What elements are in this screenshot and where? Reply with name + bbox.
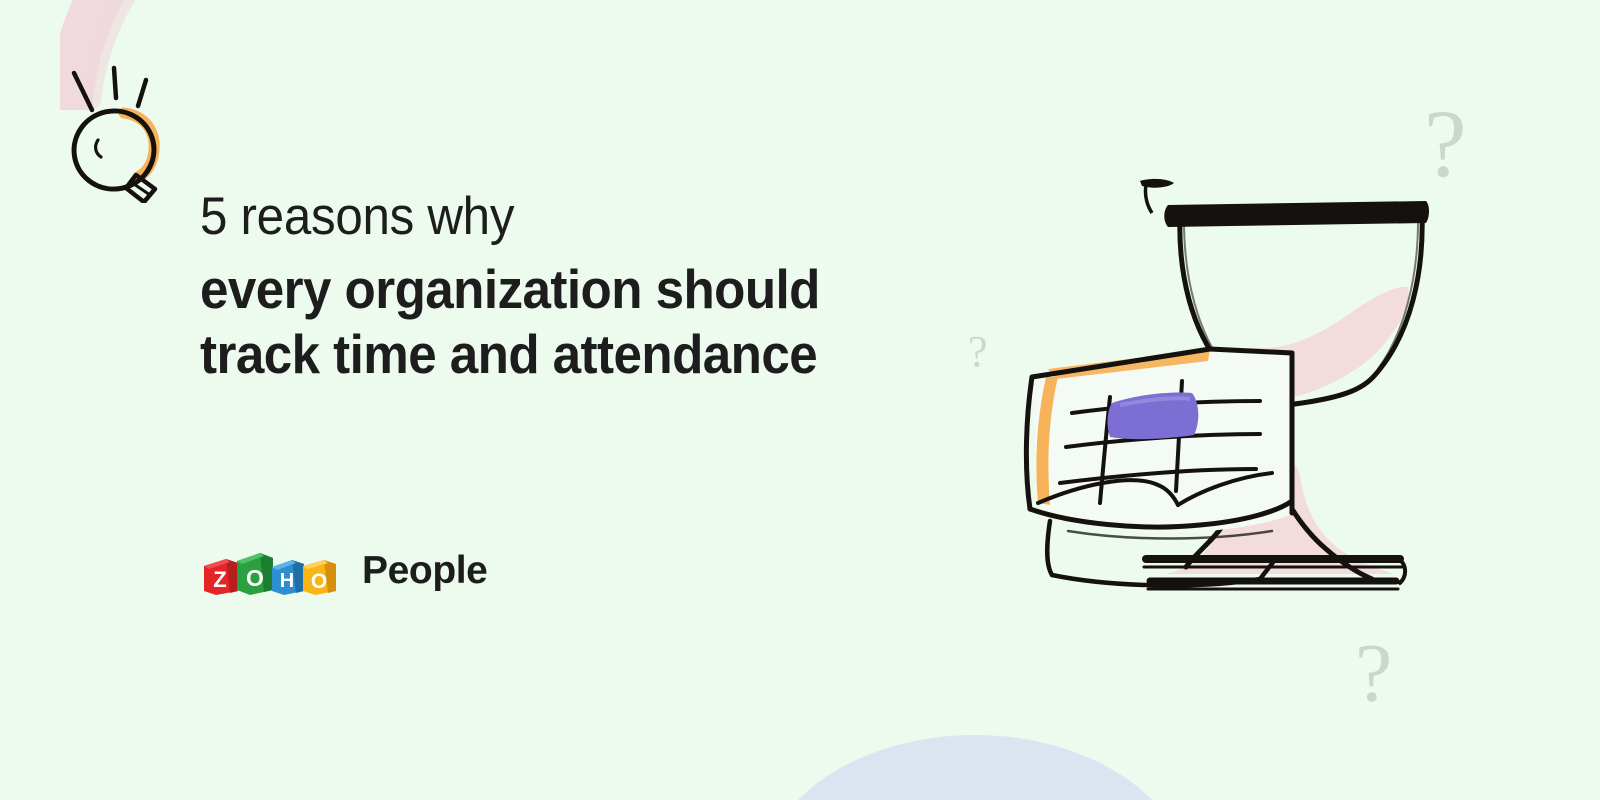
svg-text:Z: Z	[213, 567, 226, 592]
banner-canvas: ? ? ? 5 reasons why every organization s…	[0, 0, 1600, 800]
hourglass-top-cap	[1140, 179, 1429, 227]
lightbulb-icon	[52, 58, 182, 203]
svg-text:H: H	[280, 570, 294, 592]
brand-logo[interactable]: Z O H O People	[200, 546, 487, 596]
headline-line-bold: every organization should track time and…	[200, 257, 870, 386]
page-title: 5 reasons why every organization should …	[200, 186, 920, 386]
pink-brush-arc	[60, 0, 420, 110]
svg-text:O: O	[311, 570, 327, 593]
headline-line-light: 5 reasons why	[200, 186, 870, 247]
product-name-people: People	[362, 549, 487, 593]
svg-text:O: O	[246, 565, 264, 591]
zoho-logo-icon: Z O H O	[200, 546, 348, 596]
blue-circle-blob	[760, 735, 1190, 800]
calendar-and-hourglass-illustration	[960, 155, 1460, 595]
question-mark-bottom-right: ?	[1355, 632, 1392, 716]
